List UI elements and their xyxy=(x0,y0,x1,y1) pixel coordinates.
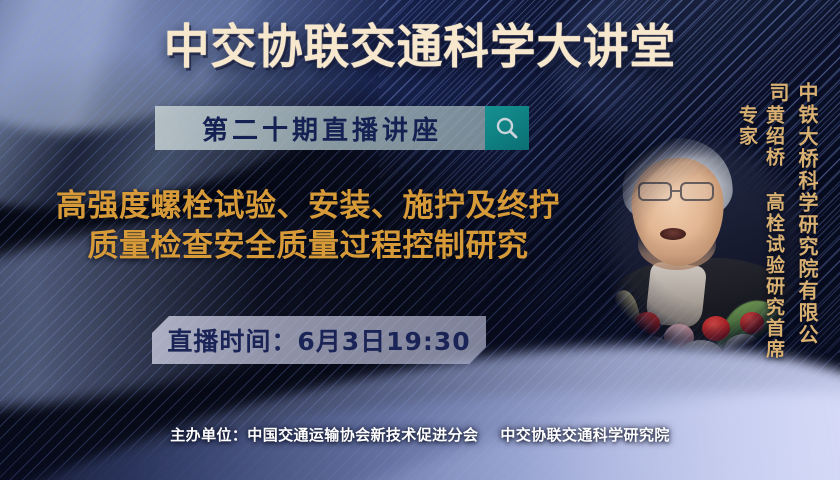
lecture-topic: 高强度螺栓试验、安装、施拧及终拧 质量检查安全质量过程控制研究 xyxy=(8,186,608,266)
episode-banner-bar: 第二十期直播讲座 xyxy=(155,106,485,150)
speaker-glasses xyxy=(636,182,720,202)
search-icon[interactable] xyxy=(485,106,529,150)
speaker-mouth xyxy=(660,228,686,240)
livestream-poster: 中交协联交通科学大讲堂 第二十期直播讲座 高强度螺栓试验、安装、施拧及终拧 质量… xyxy=(0,0,840,480)
footer-org-1: 中国交通运输协会新技术促进分会 xyxy=(247,426,478,444)
footer-org-2: 中交协联交通科学研究院 xyxy=(500,426,669,444)
footer-prefix: 主办单位： xyxy=(170,426,247,444)
lecture-topic-line2: 质量检查安全质量过程控制研究 xyxy=(8,226,608,266)
lecture-topic-line1: 高强度螺栓试验、安装、施拧及终拧 xyxy=(56,188,560,224)
broadcast-time-badge: 直播时间：6月3日19:30 xyxy=(152,316,486,364)
page-title: 中交协联交通科学大讲堂 xyxy=(13,22,828,74)
broadcast-time-label: 直播时间：6月3日19:30 xyxy=(167,322,470,358)
episode-label: 第二十期直播讲座 xyxy=(198,110,442,147)
footer-organizers: 主办单位：中国交通运输协会新技术促进分会中交协联交通科学研究院 xyxy=(0,424,840,445)
episode-banner[interactable]: 第二十期直播讲座 xyxy=(155,106,529,150)
speaker-name-role: 黄绍桥 高栓试验研究首席专家 xyxy=(734,105,788,360)
